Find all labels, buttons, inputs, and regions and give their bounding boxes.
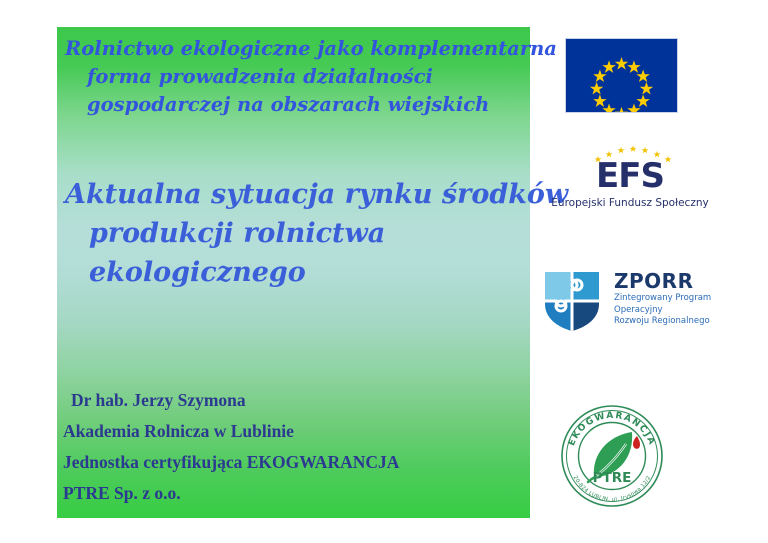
efs-wordmark: EFS [550,157,710,195]
author-name: Dr hab. Jerzy Szymona [63,385,523,416]
zporr-logo: ZPORR Zintegrowany Program Operacyjny Ro… [538,268,738,334]
zporr-subtitle-line-3: Rozwoju Regionalnego [614,316,739,328]
title-line-2: forma prowadzenia działalności [65,63,520,91]
european-union-flag-icon [565,38,678,113]
author-affiliation: Akademia Rolnicza w Lublinie [63,416,523,447]
zporr-subtitle-line-2: Operacyjny [614,305,739,317]
subtitle-line-2: produkcji rolnictwa [65,214,525,253]
title-line-1: Rolnictwo ekologiczne jako komplementarn… [65,35,520,63]
subtitle-line-3: ekologicznego [65,253,525,292]
logo-column: EFS Europejski Fundusz Społeczny [530,0,768,543]
zporr-puzzle-shield-icon [543,270,601,332]
zporr-subtitle-line-1: Zintegrowany Program [614,293,739,305]
ekogwarancja-seal-logo: EKOGWARANCJA 20-824 LUBLIN, ul. Irysowa … [558,402,666,510]
seal-center-text: PTRE [593,470,632,486]
subtitle-line-1: Aktualna sytuacja rynku środków [65,175,525,214]
title-line-3: gospodarczej na obszarach wiejskich [65,91,520,119]
slide-subtitle: Aktualna sytuacja rynku środków produkcj… [65,175,525,292]
efs-caption: Europejski Fundusz Społeczny [550,197,710,209]
zporr-wordmark: ZPORR [614,270,739,293]
slide-gradient-panel: Rolnictwo ekologiczne jako komplementarn… [57,27,530,518]
efs-logo: EFS Europejski Fundusz Społeczny [550,145,710,223]
author-organisation-suffix: PTRE Sp. z o.o. [63,478,523,509]
slide-author-block: Dr hab. Jerzy Szymona Akademia Rolnicza … [63,385,523,509]
author-organisation: Jednostka certyfikująca EKOGWARANCJA [63,447,523,478]
slide-title: Rolnictwo ekologiczne jako komplementarn… [65,35,520,119]
zporr-text-block: ZPORR Zintegrowany Program Operacyjny Ro… [614,270,739,328]
